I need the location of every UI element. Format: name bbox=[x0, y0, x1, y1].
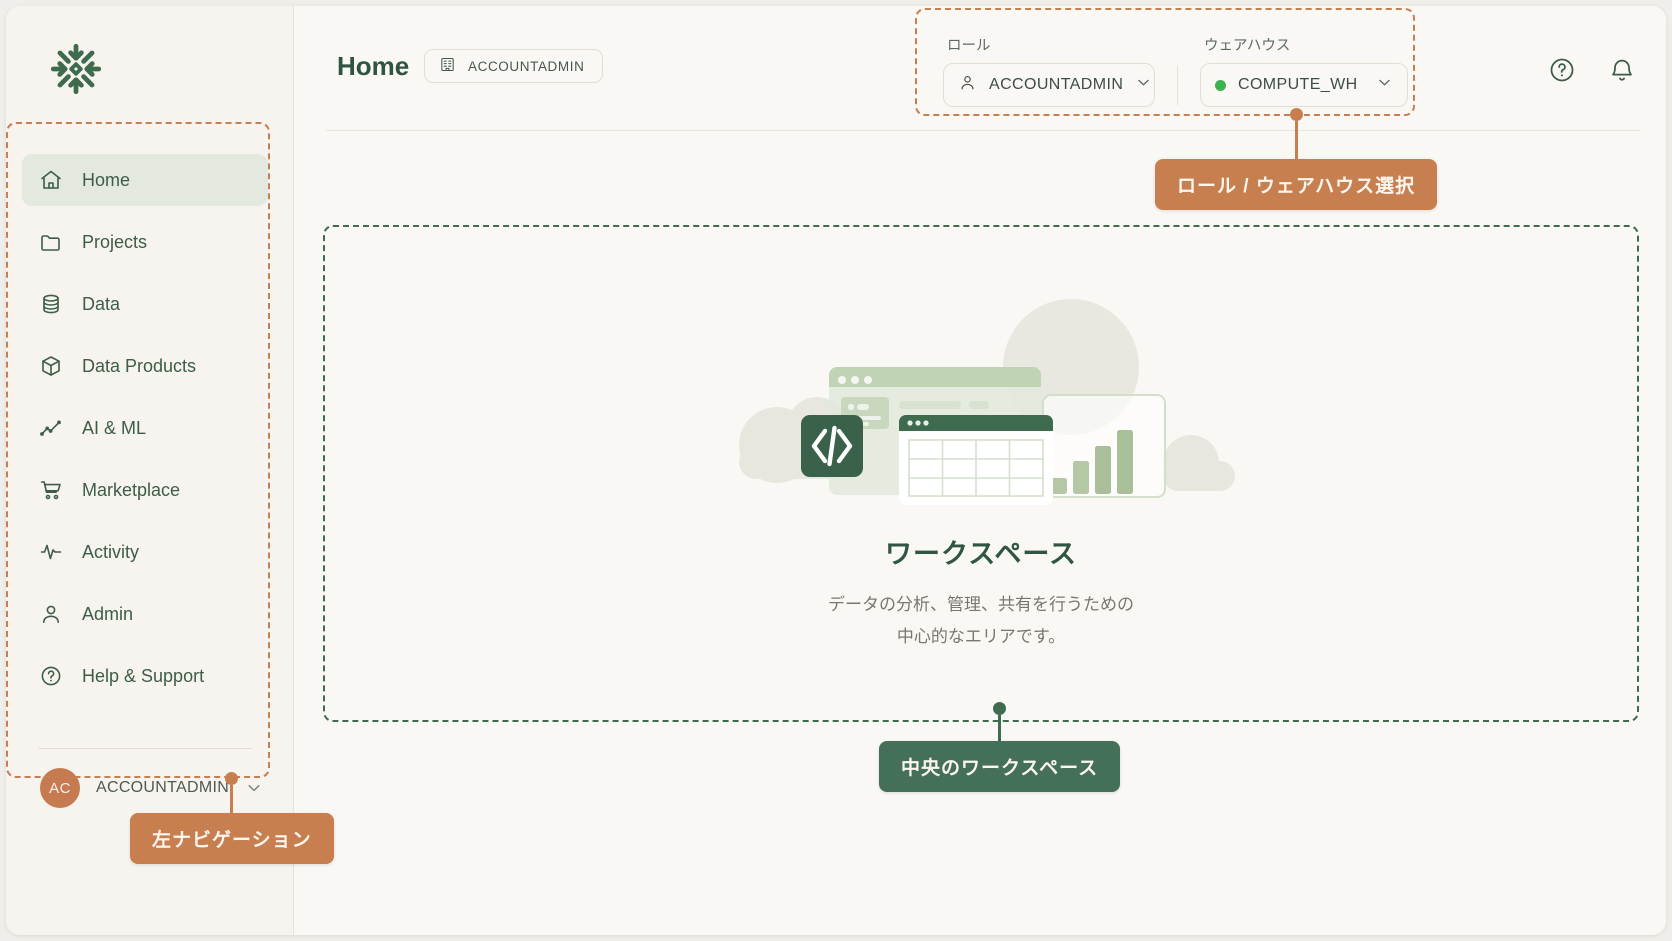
selector-divider bbox=[1177, 65, 1178, 105]
question-circle-icon bbox=[38, 663, 64, 689]
account-badge[interactable]: ACCOUNTADMIN bbox=[424, 49, 603, 83]
workspace-title: ワークスペース bbox=[885, 532, 1077, 571]
bell-icon[interactable] bbox=[1608, 56, 1636, 84]
sidebar-item-data[interactable]: Data bbox=[22, 278, 268, 330]
database-icon bbox=[38, 291, 64, 317]
workspace-illustration bbox=[721, 295, 1241, 510]
annotation-dot-icon bbox=[993, 702, 1006, 715]
pulse-icon bbox=[38, 539, 64, 565]
sidebar-item-projects[interactable]: Projects bbox=[22, 216, 268, 268]
question-circle-icon[interactable] bbox=[1548, 56, 1576, 84]
annotation-callout-role-warehouse: ロール / ウェアハウス選択 bbox=[1155, 108, 1437, 210]
annotation-stem bbox=[1295, 121, 1298, 159]
folder-icon bbox=[38, 229, 64, 255]
main-content: Home ACCOUNTADMIN ロール bbox=[294, 6, 1666, 935]
sidebar-item-label: Data Products bbox=[82, 356, 196, 377]
sidebar-item-data-products[interactable]: Data Products bbox=[22, 340, 268, 392]
annotation-dot-icon bbox=[225, 772, 238, 785]
sidebar-nav-list: Home Projects bbox=[22, 154, 268, 712]
sidebar-item-label: Home bbox=[82, 170, 130, 191]
role-selector-label: ロール bbox=[943, 34, 1155, 55]
sidebar-item-label: Projects bbox=[82, 232, 147, 253]
role-selector: ロール ACCOUNTADMIN bbox=[943, 34, 1155, 107]
home-icon bbox=[38, 167, 64, 193]
sidebar-item-home[interactable]: Home bbox=[22, 154, 268, 206]
role-warehouse-selector-group: ロール ACCOUNTADMIN bbox=[943, 34, 1408, 107]
sidebar-divider bbox=[38, 748, 252, 749]
sidebar-item-marketplace[interactable]: Marketplace bbox=[22, 464, 268, 516]
role-selector-value: ACCOUNTADMIN bbox=[989, 76, 1123, 94]
annotation-label: 左ナビゲーション bbox=[130, 813, 334, 864]
sidebar-item-label: Activity bbox=[82, 542, 139, 563]
person-icon bbox=[958, 73, 977, 97]
warehouse-selector-value: COMPUTE_WH bbox=[1238, 76, 1364, 94]
workspace-subtitle-line2: 中心的なエリアです。 bbox=[828, 621, 1134, 652]
sidebar-item-help-support[interactable]: Help & Support bbox=[22, 650, 268, 702]
warehouse-selector: ウェアハウス COMPUTE_WH bbox=[1200, 34, 1408, 107]
warehouse-selector-label: ウェアハウス bbox=[1200, 34, 1408, 55]
sidebar-item-label: Help & Support bbox=[82, 666, 204, 687]
shopping-cart-icon bbox=[38, 477, 64, 503]
annotation-stem bbox=[998, 715, 1001, 741]
cube-icon bbox=[38, 353, 64, 379]
app-root: Home Projects bbox=[0, 0, 1672, 941]
sidebar-item-label: Data bbox=[82, 294, 120, 315]
sidebar-item-label: Admin bbox=[82, 604, 133, 625]
header-icon-group bbox=[1548, 56, 1636, 84]
header-divider bbox=[326, 130, 1640, 131]
sidebar-item-activity[interactable]: Activity bbox=[22, 526, 268, 578]
workspace-subtitle-line1: データの分析、管理、共有を行うための bbox=[828, 589, 1134, 620]
annotation-dot-icon bbox=[1290, 108, 1303, 121]
account-badge-label: ACCOUNTADMIN bbox=[468, 59, 584, 74]
status-dot-icon bbox=[1215, 80, 1226, 91]
top-header-bar: Home ACCOUNTADMIN ロール bbox=[294, 6, 1666, 131]
chevron-down-icon bbox=[1376, 74, 1393, 96]
workspace-panel: ワークスペース データの分析、管理、共有を行うための 中心的なエリアです。 bbox=[323, 225, 1639, 722]
trend-line-icon bbox=[38, 415, 64, 441]
sidebar-item-label: AI & ML bbox=[82, 418, 146, 439]
annotation-label: 中央のワークスペース bbox=[879, 741, 1120, 792]
annotation-callout-central-workspace: 中央のワークスペース bbox=[879, 702, 1120, 792]
page-title: Home bbox=[337, 51, 409, 82]
avatar: AC bbox=[40, 768, 80, 808]
annotation-stem bbox=[230, 785, 233, 813]
person-icon bbox=[38, 601, 64, 627]
organization-icon bbox=[439, 56, 456, 76]
sidebar-item-admin[interactable]: Admin bbox=[22, 588, 268, 640]
role-selector-button[interactable]: ACCOUNTADMIN bbox=[943, 63, 1155, 107]
sidebar-item-label: Marketplace bbox=[82, 480, 180, 501]
snowflake-logo-icon[interactable] bbox=[46, 39, 106, 99]
workspace-subtitle: データの分析、管理、共有を行うための 中心的なエリアです。 bbox=[828, 589, 1134, 652]
annotation-label: ロール / ウェアハウス選択 bbox=[1155, 159, 1437, 210]
annotation-callout-left-navigation: 左ナビゲーション bbox=[130, 772, 334, 864]
warehouse-selector-button[interactable]: COMPUTE_WH bbox=[1200, 63, 1408, 107]
sidebar-item-ai-ml[interactable]: AI & ML bbox=[22, 402, 268, 454]
chevron-down-icon bbox=[1135, 74, 1152, 96]
